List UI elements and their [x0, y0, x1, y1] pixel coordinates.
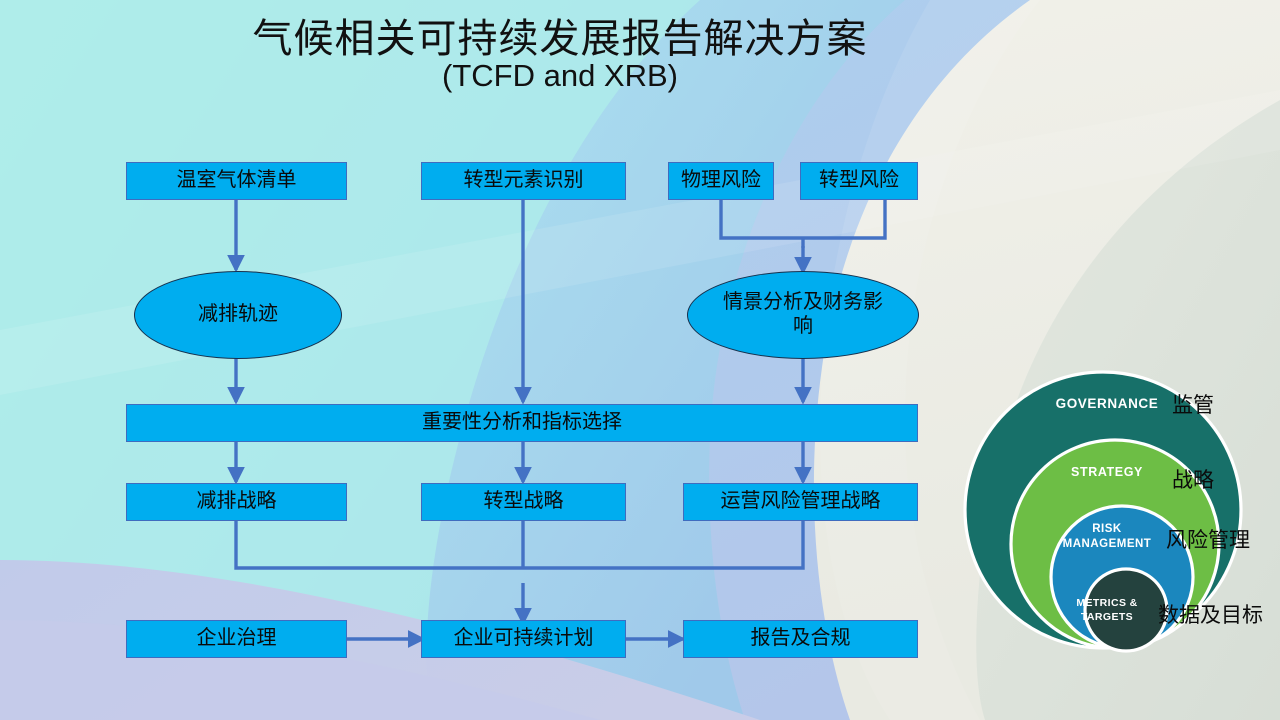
node-label: 减排轨迹: [198, 303, 278, 327]
ring-label-risk-line2: MANAGEMENT: [1063, 538, 1152, 550]
node-label: 情景分析及财务影响: [722, 291, 884, 338]
node-label: 转型元素识别: [464, 169, 584, 193]
node-label: 企业治理: [197, 627, 277, 651]
connector-risks-bracket: [721, 200, 885, 238]
node-transition-strategy[interactable]: 转型战略: [421, 483, 626, 521]
node-label: 物理风险: [681, 169, 761, 193]
ring-zh-label-risk-management: 风险管理: [1166, 530, 1250, 551]
node-corporate-governance[interactable]: 企业治理: [126, 620, 347, 658]
slide-canvas: 气候相关可持续发展报告解决方案 (TCFD and XRB): [0, 0, 1280, 720]
node-label: 报告及合规: [751, 627, 851, 651]
node-label: 温室气体清单: [177, 169, 297, 193]
node-scenario-analysis[interactable]: 情景分析及财务影响: [687, 271, 919, 359]
ring-label-metrics-line2: TARGETS: [1081, 611, 1133, 623]
node-sustainability-plan[interactable]: 企业可持续计划: [421, 620, 626, 658]
ring-zh-label-metrics-targets: 数据及目标: [1158, 605, 1263, 626]
node-emission-strategy[interactable]: 减排战略: [126, 483, 347, 521]
node-physical-risk[interactable]: 物理风险: [668, 162, 774, 200]
node-transition-elements[interactable]: 转型元素识别: [421, 162, 626, 200]
ring-zh-label-governance: 监管: [1172, 395, 1214, 416]
node-operational-risk-strategy[interactable]: 运营风险管理战略: [683, 483, 918, 521]
node-transition-risk[interactable]: 转型风险: [800, 162, 918, 200]
ring-metrics-targets: [1085, 569, 1167, 651]
node-reporting-compliance[interactable]: 报告及合规: [683, 620, 918, 658]
node-materiality-analysis[interactable]: 重要性分析和指标选择: [126, 404, 918, 442]
tcfd-pillars-diagram: GOVERNANCE STRATEGY RISK MANAGEMENT METR…: [955, 360, 1280, 685]
ring-zh-label-strategy: 战略: [1172, 470, 1214, 491]
ring-label-risk-line1: RISK: [1092, 523, 1122, 535]
node-label: 转型风险: [819, 169, 899, 193]
node-emission-trajectory[interactable]: 减排轨迹: [134, 271, 342, 359]
ring-label-metrics-line1: METRICS &: [1076, 597, 1137, 609]
node-label: 重要性分析和指标选择: [422, 411, 622, 435]
ring-label-governance: GOVERNANCE: [1056, 396, 1159, 411]
connector-strategies-bracket: [236, 521, 803, 568]
node-label: 减排战略: [197, 490, 277, 514]
node-ghg-inventory[interactable]: 温室气体清单: [126, 162, 347, 200]
node-label: 企业可持续计划: [454, 627, 594, 651]
node-label: 运营风险管理战略: [721, 490, 881, 514]
ring-label-strategy: STRATEGY: [1071, 465, 1143, 479]
node-label: 转型战略: [484, 490, 564, 514]
